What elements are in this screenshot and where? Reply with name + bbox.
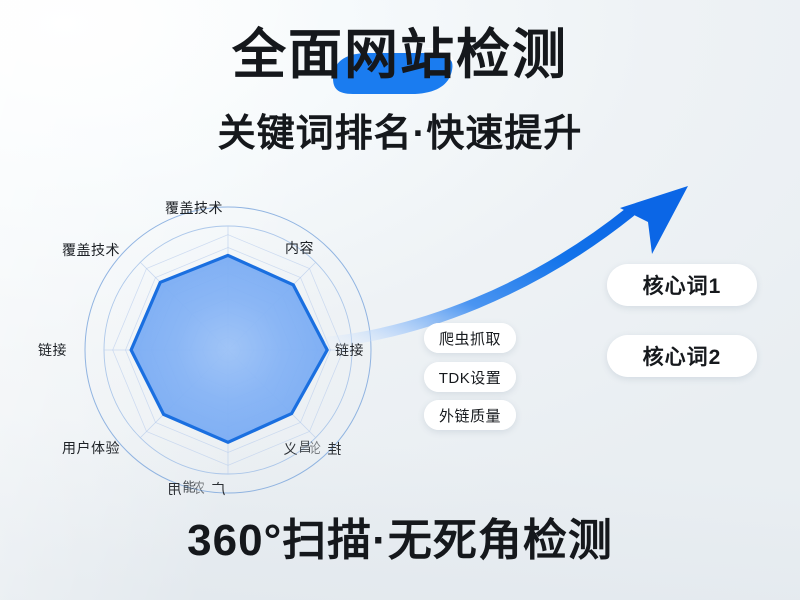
tag-pill-0[interactable]: 爬虫抓取 bbox=[424, 323, 516, 353]
radar-axis-label-7: 覆盖技术 bbox=[62, 240, 120, 260]
page-footer-title: 360°扫描·无死角检测 bbox=[0, 504, 800, 568]
footer-block: 360°扫描·无死角检测 bbox=[0, 504, 800, 568]
page-subtitle: 关键词排名·快速提升 bbox=[0, 102, 800, 157]
main-title-wrapper: 全面网站检测 bbox=[232, 28, 568, 82]
keyword-pill-0-label: 核心词1 bbox=[643, 270, 722, 300]
header-block: 全面网站检测 关键词排名·快速提升 bbox=[0, 28, 800, 157]
tag-pill-2[interactable]: 外链质量 bbox=[424, 400, 516, 430]
page-title-highlight: 网站 bbox=[344, 25, 456, 85]
radar-axis-label-5: 用户体验 bbox=[62, 438, 120, 458]
page-title-suffix: 检测 bbox=[456, 25, 568, 85]
radar-axis-label-6: 链接 bbox=[38, 340, 67, 360]
tag-pill-1[interactable]: TDK设置 bbox=[424, 362, 516, 392]
page-title: 全面网站检测 bbox=[232, 28, 568, 82]
radar-axis-label-4: 用能农广 bbox=[167, 478, 225, 498]
radar-axis-label-3: 义昌论挂 bbox=[283, 438, 341, 458]
radar-series bbox=[131, 255, 327, 442]
page-title-prefix: 全面 bbox=[232, 25, 344, 85]
radar-axis-label-0: 覆盖技术 bbox=[165, 198, 223, 218]
tag-pill-0-label: 爬虫抓取 bbox=[439, 328, 501, 349]
keyword-pill-0[interactable]: 核心词1 bbox=[607, 264, 757, 306]
keyword-pill-1-label: 核心词2 bbox=[643, 341, 722, 371]
tag-pill-2-label: 外链质量 bbox=[439, 405, 501, 426]
poster-canvas: 全面网站检测 关键词排名·快速提升 覆盖技术 内容 链接 义昌论挂 用能农广 用… bbox=[0, 0, 800, 600]
keyword-pill-1[interactable]: 核心词2 bbox=[607, 335, 757, 377]
tag-pill-1-label: TDK设置 bbox=[439, 367, 502, 388]
